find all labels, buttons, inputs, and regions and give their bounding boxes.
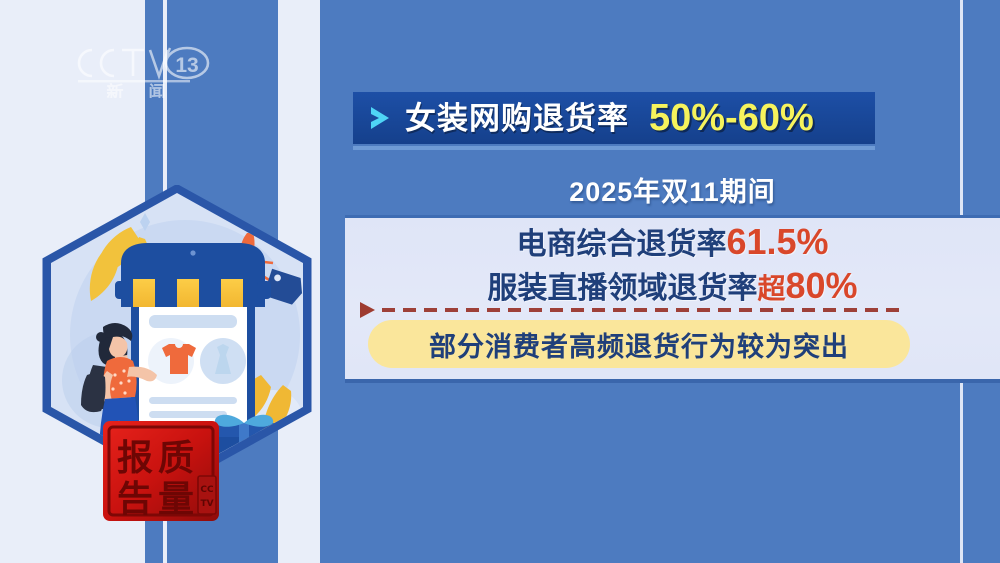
svg-text:量: 量 bbox=[158, 479, 194, 520]
headline-label: 女装网购退货率 bbox=[405, 103, 629, 134]
stat-value: 61.5% bbox=[726, 221, 828, 262]
svg-text:新: 新 bbox=[107, 82, 124, 98]
stat-row-livestream: 服装直播领域退货率超80% bbox=[345, 268, 1000, 304]
stat-label: 服装直播领域退货率 bbox=[487, 272, 757, 305]
stat-label: 电商综合退货率 bbox=[516, 228, 726, 261]
callout-text: 部分消费者高频退货行为较为突出 bbox=[429, 325, 849, 364]
stat-value: 80% bbox=[785, 265, 857, 306]
triangle-right-icon bbox=[360, 302, 375, 318]
subtitle-period: 2025年双11期间 bbox=[345, 170, 1000, 209]
svg-text:闻: 闻 bbox=[149, 82, 166, 98]
headline-underline bbox=[353, 146, 875, 150]
quality-report-seal: 报 质 告 量 CC TV bbox=[100, 418, 222, 526]
svg-text:报: 报 bbox=[117, 438, 153, 479]
svg-text:质: 质 bbox=[158, 438, 194, 479]
cctv-channel-logo: 13 新 闻 bbox=[62, 36, 210, 98]
callout-pill: 部分消费者高频退货行为较为突出 bbox=[368, 320, 910, 368]
svg-text:告: 告 bbox=[117, 479, 153, 520]
headline-value: 50%-60% bbox=[649, 99, 814, 137]
headline-bar: 女装网购退货率 50%-60% bbox=[353, 92, 875, 144]
stat-row-ecommerce: 电商综合退货率61.5% bbox=[345, 224, 1000, 260]
broadcast-graphic: 13 新 闻 bbox=[0, 0, 1000, 563]
svg-text:TV: TV bbox=[200, 499, 213, 509]
dashed-divider bbox=[360, 302, 900, 318]
svg-text:CC: CC bbox=[200, 485, 214, 495]
divider-dashes bbox=[382, 308, 900, 312]
svg-text:13: 13 bbox=[175, 54, 198, 77]
chevron-right-icon bbox=[367, 103, 393, 133]
stat-prefix: 超 bbox=[757, 273, 785, 304]
